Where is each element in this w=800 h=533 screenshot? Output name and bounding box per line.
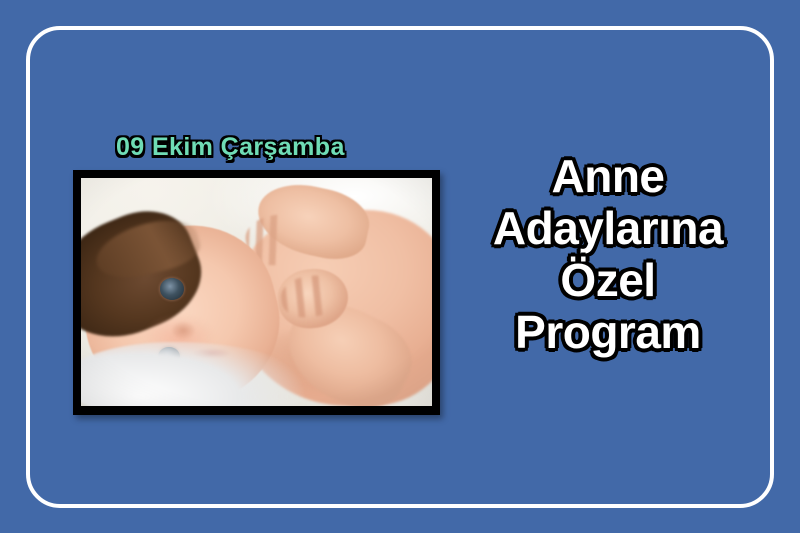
photo-vignette	[81, 178, 432, 406]
headline-line-3: Özel	[455, 254, 761, 306]
headline-line-1: Anne	[455, 150, 761, 202]
date-label: 09 Ekim Çarşamba	[116, 133, 345, 162]
baby-photo	[81, 178, 432, 406]
headline: Anne Adaylarına Özel Program	[455, 150, 761, 358]
photo-frame	[73, 170, 440, 415]
poster-canvas: 09 Ekim Çarşamba Anne Adaylarına Ö	[0, 0, 800, 533]
headline-line-2: Adaylarına	[455, 202, 761, 254]
headline-line-4: Program	[455, 306, 761, 358]
